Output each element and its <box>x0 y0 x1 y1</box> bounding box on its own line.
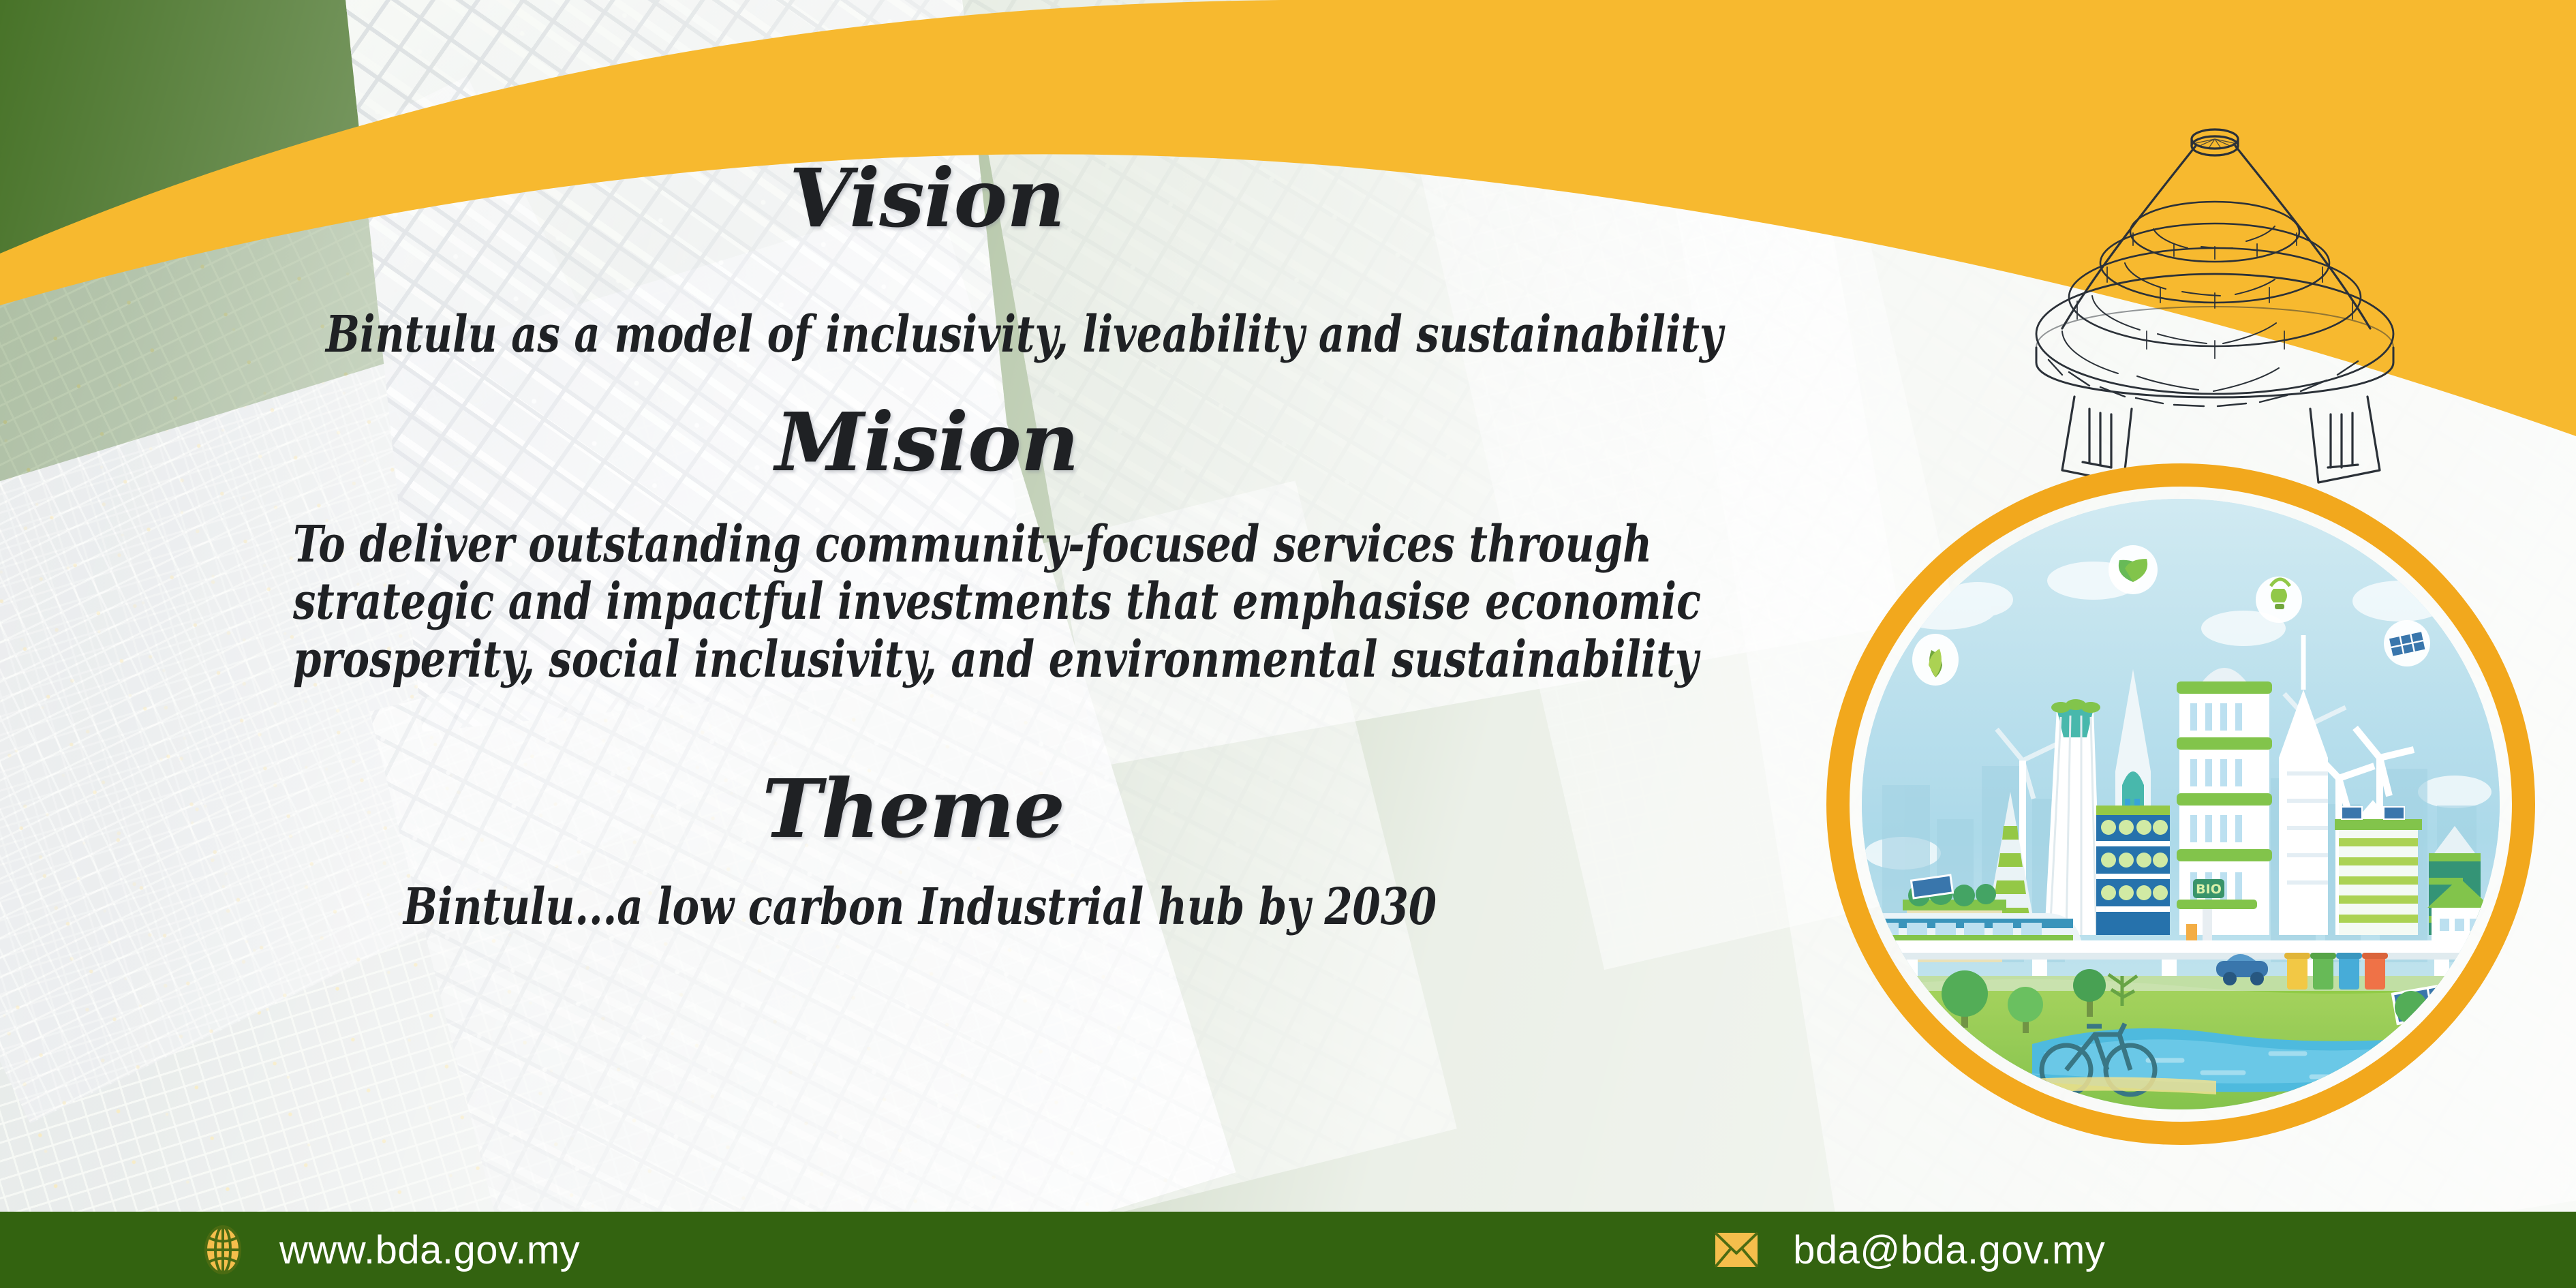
mission-body: To deliver outstanding community-focused… <box>136 518 1704 690</box>
mission-line-2: strategic and impactful investments that… <box>293 575 1547 628</box>
theme-heading: Theme <box>504 769 1322 849</box>
theme-line-1: Bintulu...a low carbon Industrial hub by… <box>348 880 1492 934</box>
footer-website[interactable]: www.bda.gov.my <box>198 1225 580 1275</box>
globe-icon <box>198 1225 248 1275</box>
vision-line-1: Bintulu as a model of inclusivity, livea… <box>326 308 1514 361</box>
email-label: bda@bda.gov.my <box>1793 1227 2105 1273</box>
mission-heading: Mision <box>518 402 1336 482</box>
text-content: Vision Bintulu as a model of inclusivity… <box>0 0 1840 1172</box>
conical-building-line-art <box>1929 89 2542 484</box>
mission-line-1: To deliver outstanding community-focused… <box>293 518 1547 571</box>
vision-heading: Vision <box>518 158 1336 239</box>
theme-body: Bintulu...a low carbon Industrial hub by… <box>204 880 1636 934</box>
envelope-icon <box>1711 1225 1762 1275</box>
mission-line-3: prosperity, social inclusivity, and envi… <box>293 633 1547 686</box>
website-label: www.bda.gov.my <box>279 1227 580 1273</box>
eco-city-orange-ring <box>1826 463 2535 1145</box>
eco-city-circle: BIO <box>1826 463 2535 1145</box>
footer-email[interactable]: bda@bda.gov.my <box>1711 1225 2105 1275</box>
vision-body: Bintulu as a model of inclusivity, livea… <box>177 308 1663 361</box>
banner-root: BIO <box>0 0 2576 1288</box>
footer-bar: www.bda.gov.my bda@bda.gov.my <box>0 1212 2576 1288</box>
